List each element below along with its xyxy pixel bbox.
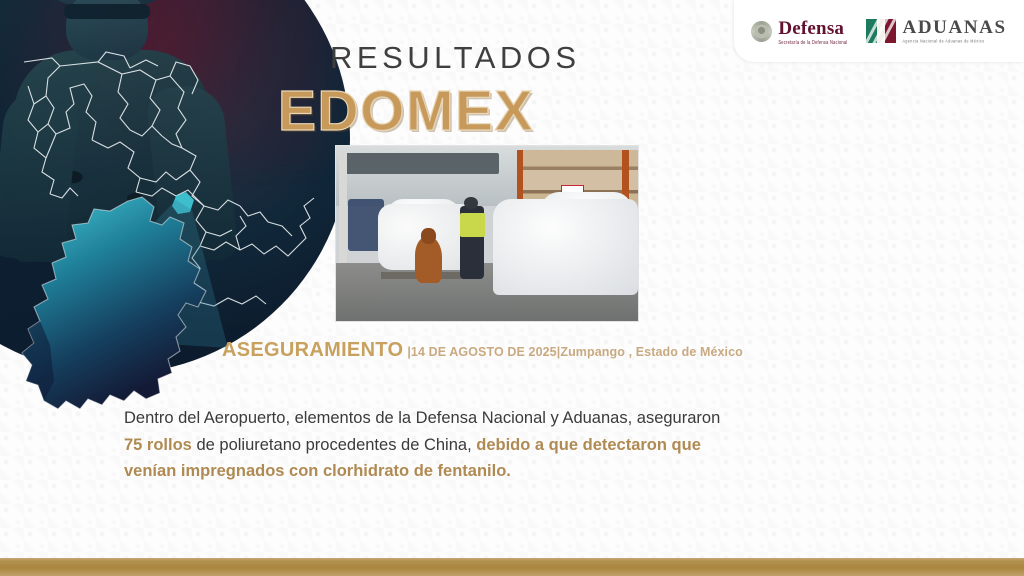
slide-root: Defensa Secretaría de la Defensa Naciona… [0,0,1024,576]
logo-defensa: Defensa Secretaría de la Defensa Naciona… [751,19,847,44]
body-line-1: Dentro del Aeropuerto, elementos de la D… [124,409,632,427]
body-line-2-a: aseguraron [637,409,720,427]
caption-meta: |14 DE AGOSTO DE 2025|Zumpango , Estado … [407,345,743,359]
page-title: EDOMEX [278,78,534,144]
mexican-eagle-seal-icon [751,21,772,42]
body-line-2-b: de poliuretano procedentes de China, [192,436,476,454]
aduanas-name: ADUANAS [903,18,1007,37]
defensa-text-block: Defensa Secretaría de la Defensa Naciona… [778,19,847,44]
page-kicker: RESULTADOS [330,40,581,76]
logo-aduanas: ADUANAS Agencia Nacional de Aduanas de M… [866,18,1007,44]
body-quantity: 75 rollos [124,436,192,454]
caption-label: ASEGURAMIENTO [222,339,403,361]
body-copy: Dentro del Aeropuerto, elementos de la D… [124,405,724,485]
seizure-photo [335,145,639,322]
defensa-name: Defensa [778,19,847,38]
logo-card: Defensa Secretaría de la Defensa Naciona… [734,0,1024,62]
defensa-subtitle: Secretaría de la Defensa Nacional [778,40,847,45]
bottom-gold-bar [0,558,1024,576]
caption-line: ASEGURAMIENTO|14 DE AGOSTO DE 2025|Zumpa… [222,339,743,362]
aduanas-flag-mark-icon [866,19,896,43]
body-line-2-hl2: debido a que [476,436,578,454]
aduanas-subtitle: Agencia Nacional de Aduanas de México [903,40,1007,45]
aduanas-text-block: ADUANAS Agencia Nacional de Aduanas de M… [903,18,1007,44]
estado-de-mexico-shape [10,195,240,425]
